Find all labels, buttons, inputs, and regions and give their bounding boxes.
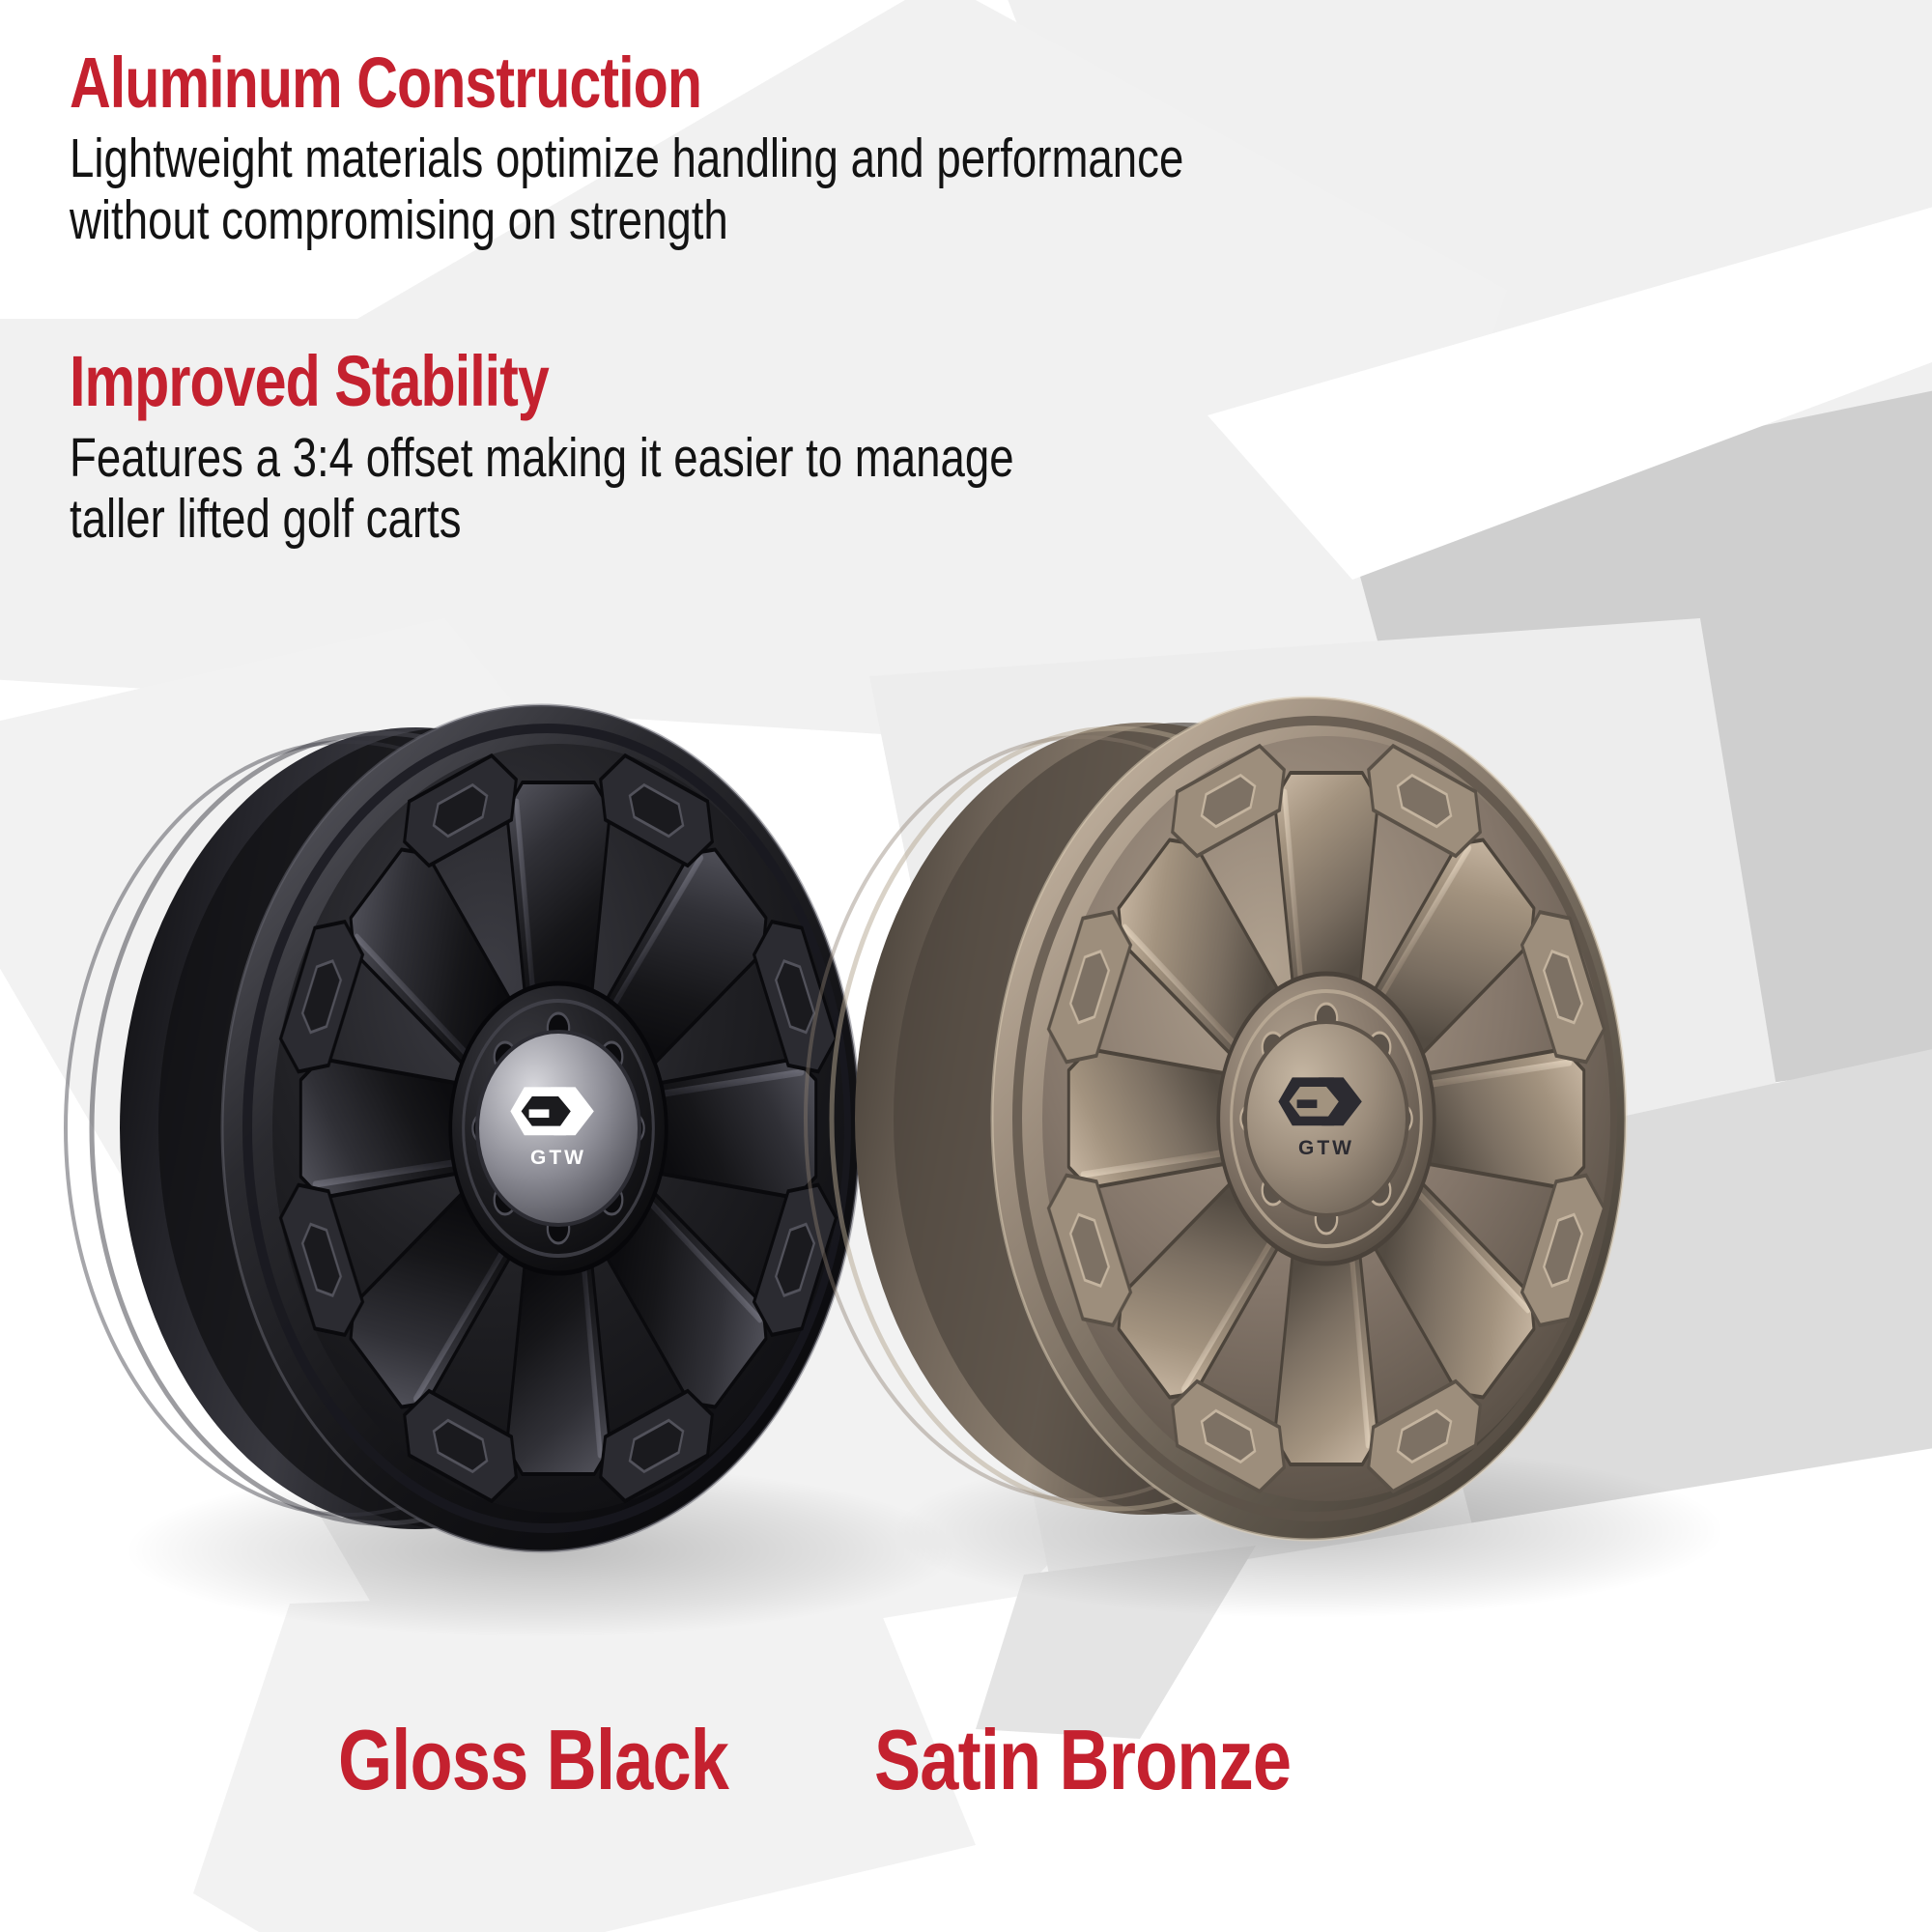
gtw-wordmark: GTW bbox=[1298, 1137, 1354, 1159]
caption-gloss-black: Gloss Black bbox=[338, 1718, 728, 1803]
feature-body-improved-stability: Features a 3:4 offset making it easier t… bbox=[70, 428, 1538, 552]
wheel-gloss-black: GTW bbox=[66, 705, 860, 1551]
feature-copy-block: Aluminum Construction Lightweight materi… bbox=[70, 46, 1905, 595]
feature-aluminum-construction: Aluminum Construction Lightweight materi… bbox=[70, 46, 1905, 252]
feature-body-aluminum-construction: Lightweight materials optimize handling … bbox=[70, 128, 1538, 252]
caption-satin-bronze: Satin Bronze bbox=[874, 1718, 1291, 1803]
feature-title-aluminum-construction: Aluminum Construction bbox=[70, 46, 1538, 119]
gtw-wordmark: GTW bbox=[530, 1147, 586, 1169]
product-captions: Gloss Black Satin Bronze bbox=[0, 1718, 1932, 1862]
bronze-wheel-center-cap: GTW bbox=[1245, 1022, 1407, 1215]
black-wheel-center-cap: GTW bbox=[477, 1032, 639, 1225]
feature-improved-stability: Improved Stability Features a 3:4 offset… bbox=[70, 345, 1905, 551]
feature-title-improved-stability: Improved Stability bbox=[70, 345, 1538, 417]
wheel-satin-bronze: GTW bbox=[806, 697, 1626, 1540]
